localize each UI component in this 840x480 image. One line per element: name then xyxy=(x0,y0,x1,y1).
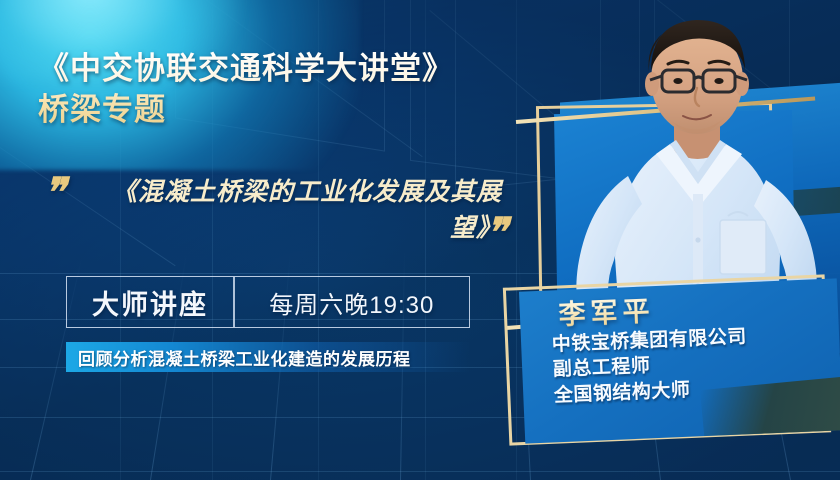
lecture-tagline-bar: 回顾分析混凝土桥梁工业化建造的发展历程 xyxy=(66,342,470,372)
lecture-tagline: 回顾分析混凝土桥梁工业化建造的发展历程 xyxy=(66,345,411,370)
quote-close-icon: ❞ xyxy=(486,213,508,253)
lecture-schedule: 每周六晚19:30 xyxy=(235,285,469,320)
speaker-info-group: 李军平 中铁宝桥集团有限公司 副总工程师 全国钢结构大师 xyxy=(528,282,840,410)
poster-canvas: 《中交协联交通科学大讲堂》 桥梁专题 ❞ 《混凝土桥梁的工业化发展及其展望》 ❞… xyxy=(0,0,840,480)
lecture-info-box: 大师讲座 每周六晚19:30 xyxy=(66,276,470,328)
quote-open-icon: ❞ xyxy=(44,173,66,213)
lecture-topic-quote: 《混凝土桥梁的工业化发展及其展望》 xyxy=(82,175,502,246)
lecture-badge-label: 大师讲座 xyxy=(67,283,233,322)
page-title: 《中交协联交通科学大讲堂》 桥梁专题 xyxy=(38,48,454,130)
